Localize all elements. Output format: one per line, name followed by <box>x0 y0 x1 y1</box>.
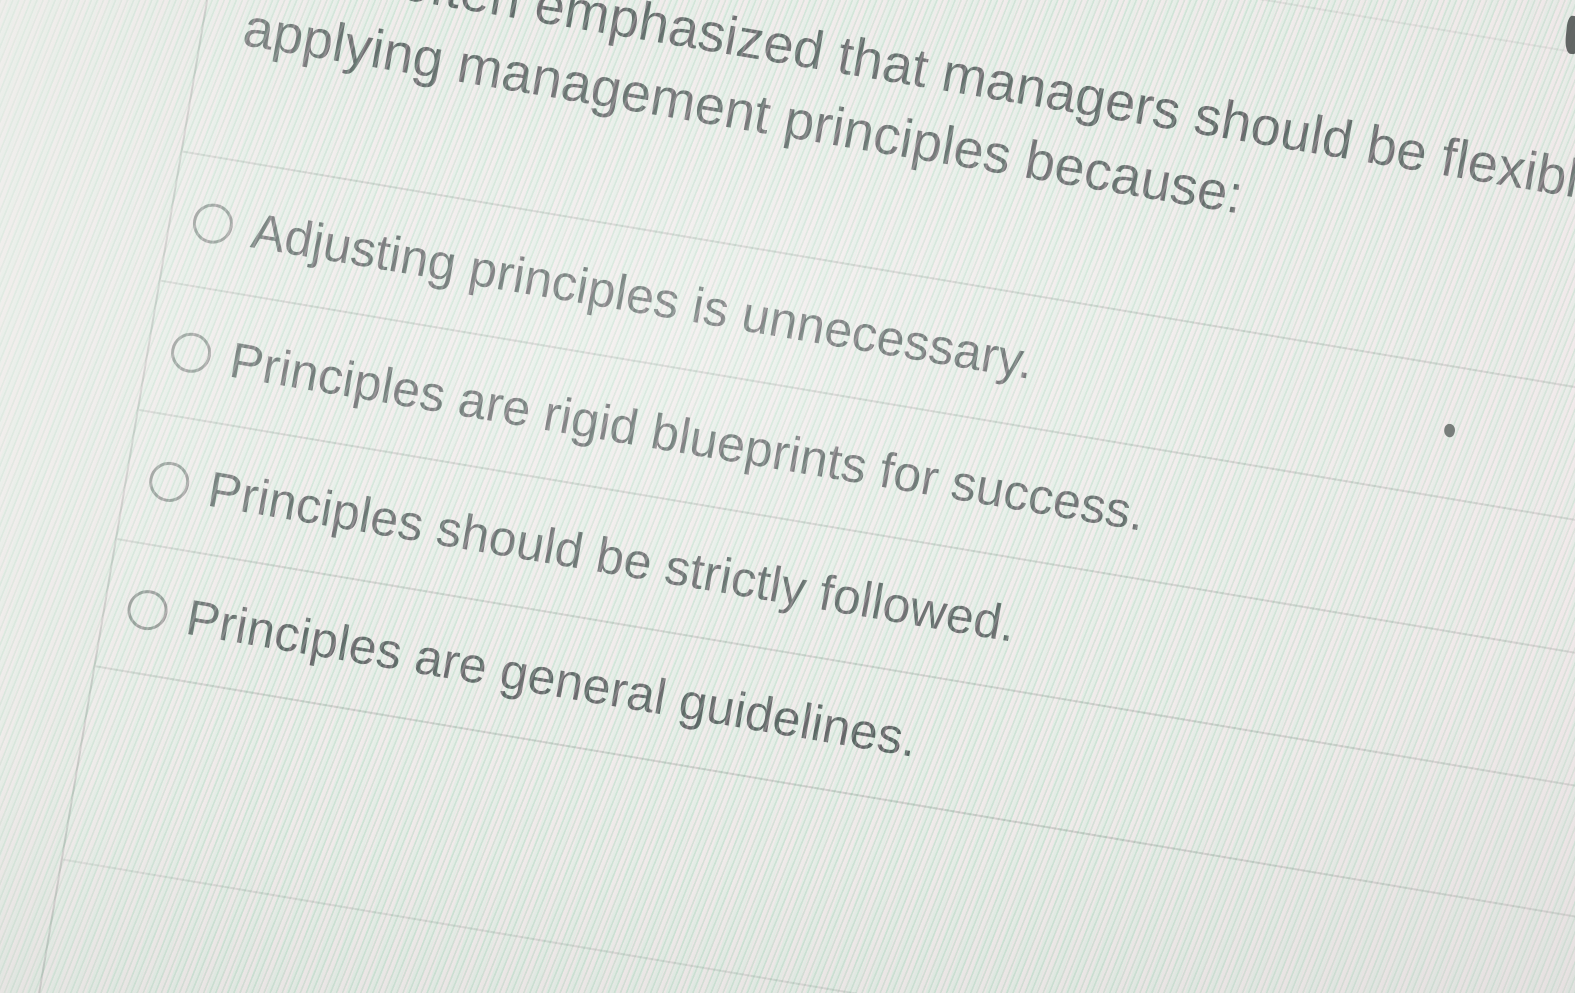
radio-button-icon-b[interactable] <box>168 329 214 375</box>
radio-button-icon-d[interactable] <box>125 587 171 633</box>
radio-button-icon-c[interactable] <box>146 458 192 504</box>
screenshot-root: Fayol often emphasized that managers sho… <box>0 0 1575 993</box>
radio-button-icon-a[interactable] <box>190 200 236 246</box>
monitor-screen-surface: Fayol often emphasized that managers sho… <box>0 0 1575 993</box>
